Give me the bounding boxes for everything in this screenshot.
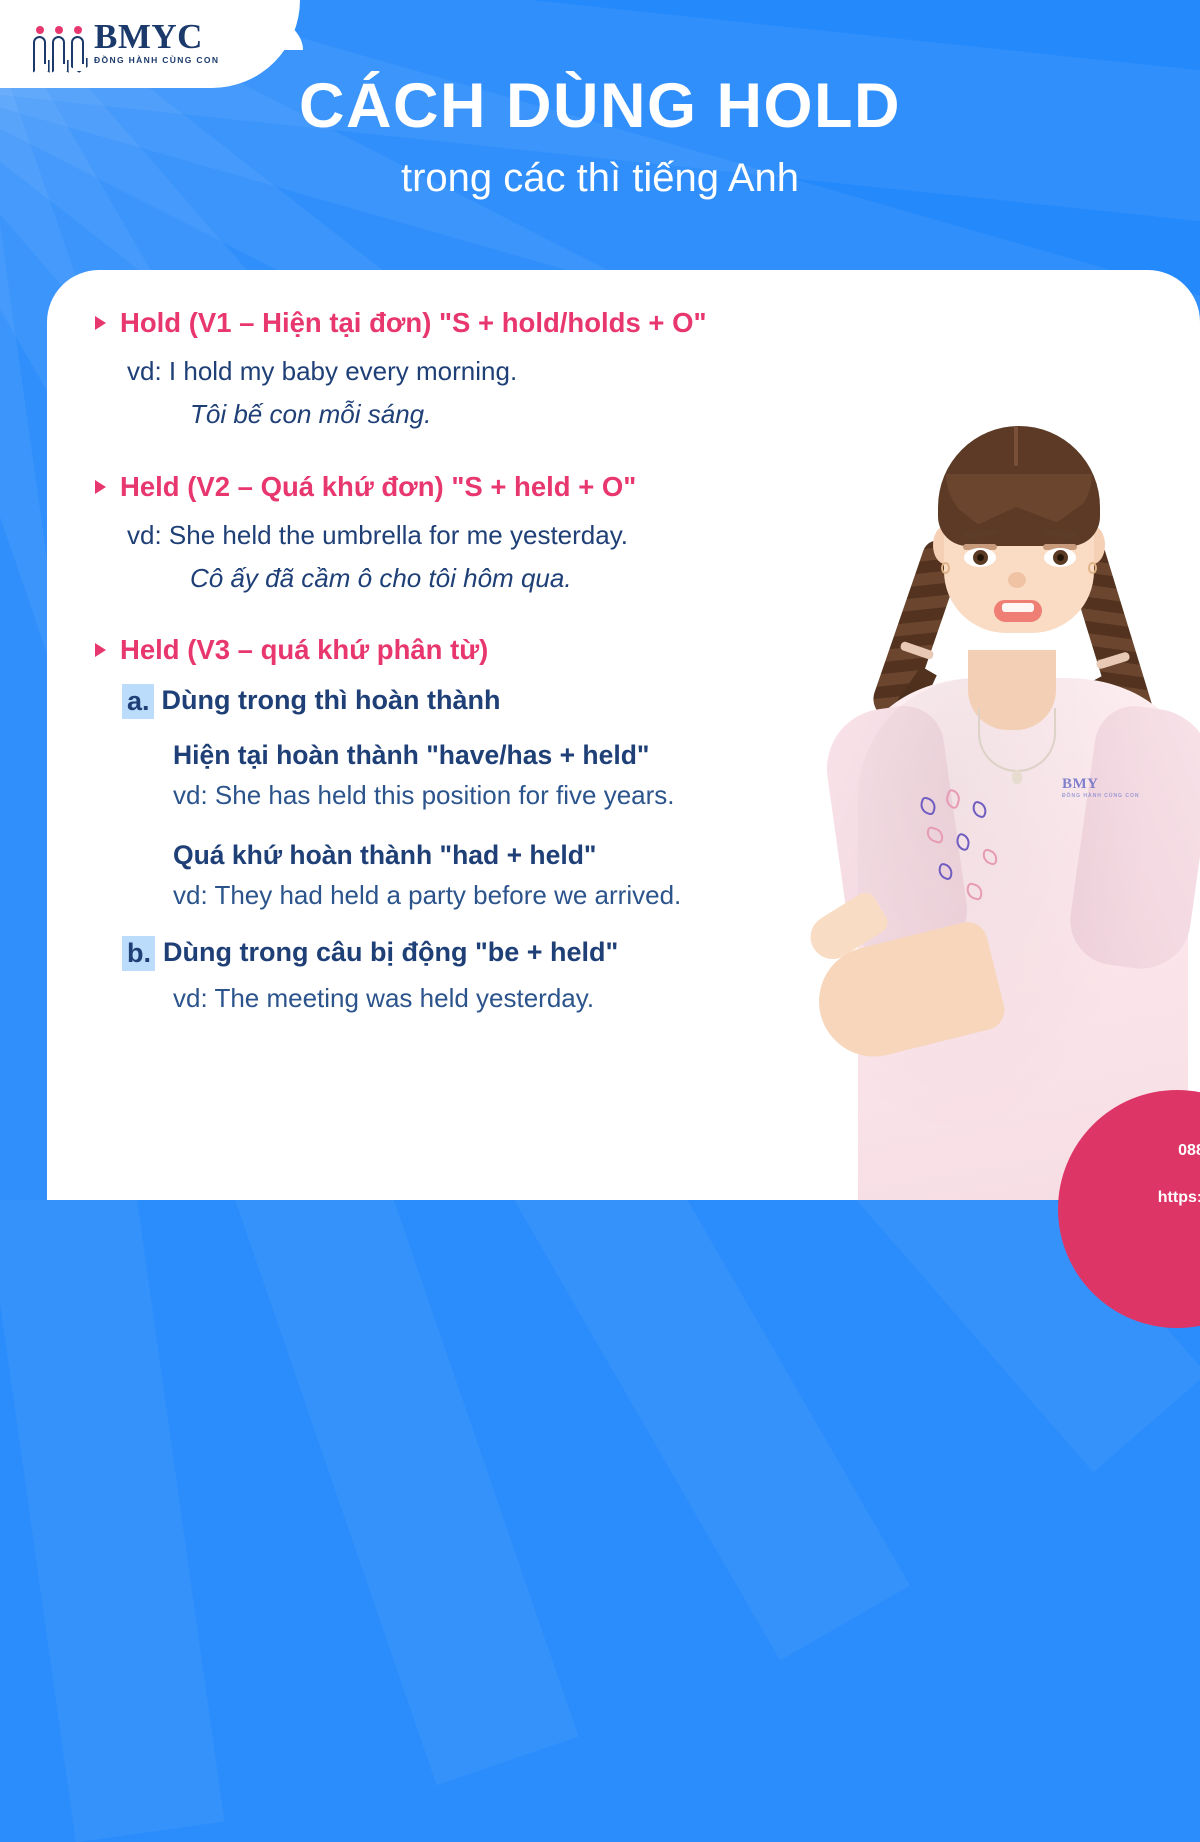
girl-pointing-photo: BMY ĐỒNG HÀNH CÙNG CON xyxy=(800,378,1200,1200)
website-label: Website xyxy=(1058,1169,1200,1187)
shirt-brand-print: BMY ĐỒNG HÀNH CÙNG CON xyxy=(1062,776,1139,799)
section-v1: Hold (V1 – Hiện tại đơn) "S + hold/holds… xyxy=(95,305,905,431)
detail-past-perfect: Quá khứ hoàn thành "had + held" vd: They… xyxy=(173,839,905,912)
detail-example: vd: The meeting was held yesterday. xyxy=(173,982,905,1015)
page-subtitle: trong các thì tiếng Anh xyxy=(0,156,1200,201)
hair-part xyxy=(1014,426,1018,466)
logo-tagline: ĐỒNG HÀNH CÙNG CON xyxy=(94,56,219,65)
sub-item-a: a. Dùng trong thì hoàn thành xyxy=(122,684,905,719)
section-v3: Held (V3 – quá khứ phân từ) a. Dùng tron… xyxy=(95,632,905,1014)
triangle-bullet-icon xyxy=(95,643,106,657)
eye-right xyxy=(1044,548,1076,567)
brand-logo[interactable]: BMYC ĐỒNG HÀNH CÙNG CON xyxy=(33,19,219,65)
triangle-bullet-icon xyxy=(95,480,106,494)
sub-item-title: Dùng trong thì hoàn thành xyxy=(162,684,501,717)
section-heading: Hold (V1 – Hiện tại đơn) "S + hold/holds… xyxy=(120,305,707,342)
sub-item-label: a. xyxy=(122,684,154,719)
logo-wordmark: BMYC xyxy=(94,19,219,54)
website-value[interactable]: https://bmyc.vn xyxy=(1058,1187,1200,1209)
example-vietnamese: Cô ấy đã cầm ô cho tôi hôm qua. xyxy=(190,562,905,596)
section-heading: Held (V3 – quá khứ phân từ) xyxy=(120,632,488,669)
detail-present-perfect: Hiện tại hoàn thành "have/has + held" vd… xyxy=(173,739,905,812)
triangle-bullet-icon xyxy=(95,316,106,330)
example-english: vd: She held the umbrella for me yesterd… xyxy=(127,519,905,553)
detail-title: Hiện tại hoàn thành "have/has + held" xyxy=(173,739,905,772)
sub-item-b: b. Dùng trong câu bị động "be + held" xyxy=(122,936,905,971)
nose xyxy=(1008,572,1026,588)
detail-example: vd: They had held a party before we arri… xyxy=(173,879,905,912)
three-people-bookmark-icon xyxy=(33,20,85,64)
earring-right xyxy=(1088,562,1097,574)
earring-left xyxy=(941,562,950,574)
example-vietnamese: Tôi bế con mỗi sáng. xyxy=(190,398,905,432)
header: CÁCH DÙNG HOLD trong các thì tiếng Anh xyxy=(0,70,1200,201)
section-v2: Held (V2 – Quá khứ đơn) "S + held + O" v… xyxy=(95,469,905,595)
detail-example: vd: She has held this position for five … xyxy=(173,779,905,812)
detail-title: Quá khứ hoàn thành "had + held" xyxy=(173,839,905,872)
section-heading: Held (V2 – Quá khứ đơn) "S + held + O" xyxy=(120,469,636,506)
eye-left xyxy=(964,548,996,567)
example-english: vd: I hold my baby every morning. xyxy=(127,355,905,389)
sub-item-label: b. xyxy=(122,936,155,971)
lesson-content: Hold (V1 – Hiện tại đơn) "S + hold/holds… xyxy=(95,305,905,1032)
hotline-value: 0888.01.6688 xyxy=(1058,1140,1200,1162)
sub-item-title: Dùng trong câu bị động "be + held" xyxy=(163,936,618,969)
necklace-pendant xyxy=(1012,770,1022,784)
hotline-label: Hotline xyxy=(1058,1122,1200,1140)
teeth xyxy=(1002,603,1034,612)
